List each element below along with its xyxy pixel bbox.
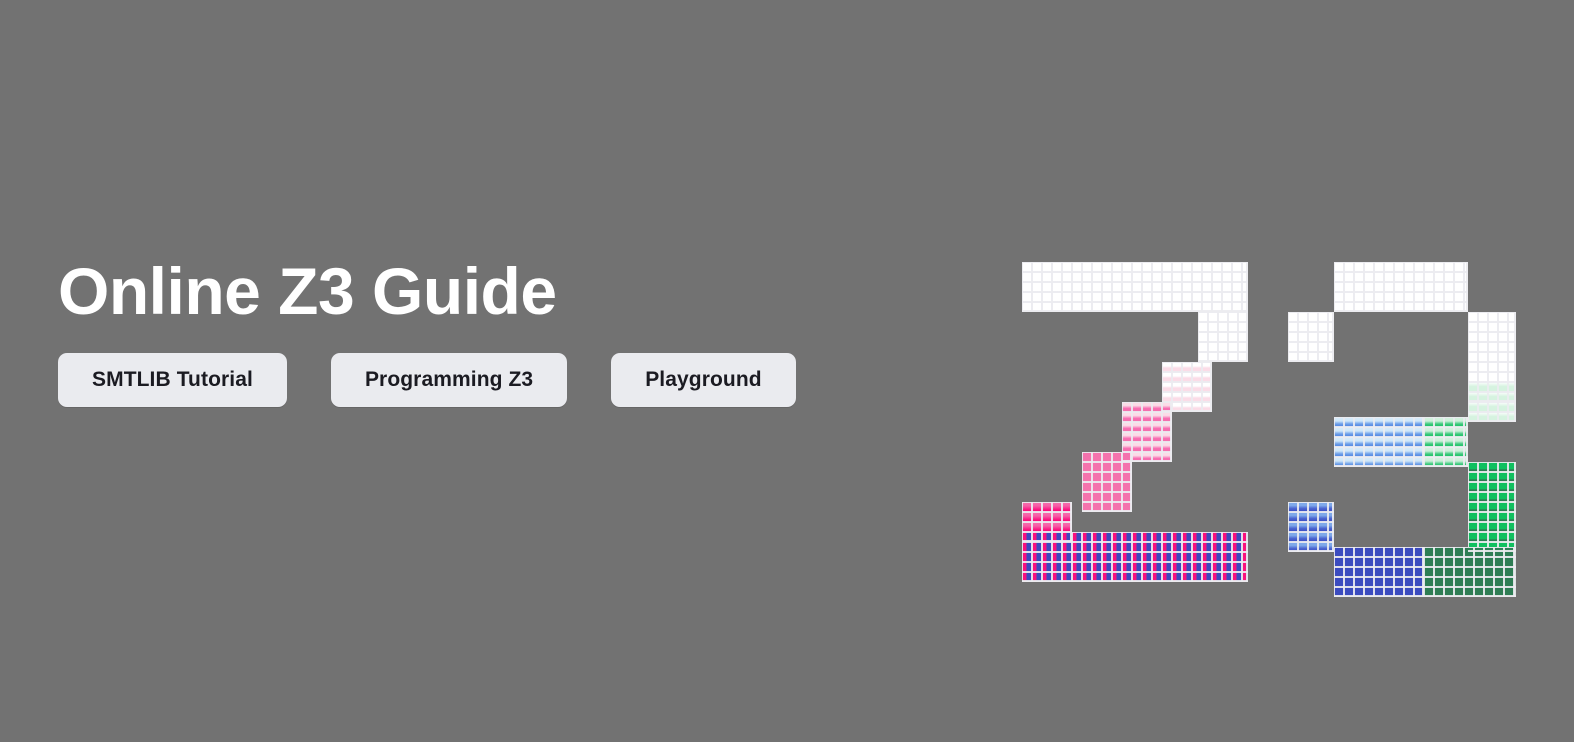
pixel-block: [1424, 417, 1468, 467]
pixel-block: [1288, 312, 1334, 362]
playground-button[interactable]: Playground: [611, 353, 796, 407]
pixel-block: [1468, 382, 1516, 422]
hero-section: Online Z3 Guide SMTLIB Tutorial Programm…: [0, 0, 1574, 742]
pixel-block: [1022, 532, 1248, 582]
hero-button-group: SMTLIB Tutorial Programming Z3 Playgroun…: [58, 353, 958, 407]
pixel-block: [1334, 547, 1424, 597]
pixel-block: [1082, 452, 1132, 512]
pixel-block: [1334, 417, 1424, 467]
programming-z3-button[interactable]: Programming Z3: [331, 353, 567, 407]
pixel-block: [1198, 312, 1248, 362]
z3-pixel-logo: [1022, 262, 1516, 582]
page-title: Online Z3 Guide: [58, 258, 958, 325]
pixel-block: [1288, 502, 1334, 552]
pixel-block: [1468, 462, 1516, 552]
hero-content: Online Z3 Guide SMTLIB Tutorial Programm…: [58, 258, 958, 407]
pixel-block: [1424, 547, 1516, 597]
glyph-z-icon: [1022, 262, 1248, 582]
pixel-block: [1022, 262, 1248, 312]
glyph-3-icon: [1288, 262, 1516, 582]
smtlib-tutorial-button[interactable]: SMTLIB Tutorial: [58, 353, 287, 407]
pixel-block: [1334, 262, 1468, 312]
